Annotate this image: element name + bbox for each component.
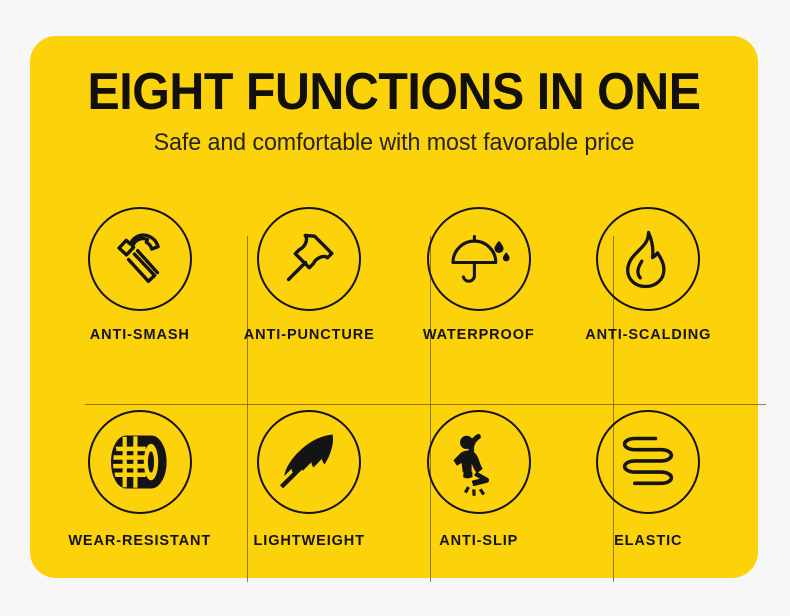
feature-item-elastic: ELASTIC [564,384,734,573]
feature-grid: ANTI-SMASH ANTI-PUNCTURE [55,195,733,573]
feature-label: LIGHTWEIGHT [254,533,365,549]
feature-label: WATERPROOF [423,327,535,343]
feature-label: ELASTIC [614,533,682,549]
feature-item-waterproof: WATERPROOF [394,195,564,384]
header-block: EIGHT FUNCTIONS IN ONE Safe and comforta… [30,64,758,157]
feature-item-anti-smash: ANTI-SMASH [55,195,225,384]
feature-item-lightweight: LIGHTWEIGHT [225,384,395,573]
feature-label: WEAR-RESISTANT [68,533,211,549]
feature-label: ANTI-SLIP [439,533,518,549]
feature-item-anti-puncture: ANTI-PUNCTURE [225,195,395,384]
feature-label: ANTI-PUNCTURE [244,327,375,343]
flame-icon [596,207,700,311]
pushpin-icon [257,207,361,311]
page-title: EIGHT FUNCTIONS IN ONE [55,64,732,120]
feature-label: ANTI-SCALDING [585,327,711,343]
tire-icon [88,410,192,514]
hammer-icon [88,207,192,311]
feather-icon [257,410,361,514]
feature-card: EIGHT FUNCTIONS IN ONE Safe and comforta… [30,36,758,578]
umbrella-rain-icon [427,207,531,311]
infographic-root: EIGHT FUNCTIONS IN ONE Safe and comforta… [0,0,790,616]
page-subtitle: Safe and comfortable with most favorable… [41,129,747,157]
feature-item-anti-scalding: ANTI-SCALDING [564,195,734,384]
feature-item-anti-slip: ANTI-SLIP [394,384,564,573]
coil-spring-icon [596,410,700,514]
slipping-person-icon [427,410,531,514]
feature-item-wear-resistant: WEAR-RESISTANT [55,384,225,573]
feature-label: ANTI-SMASH [90,327,190,343]
